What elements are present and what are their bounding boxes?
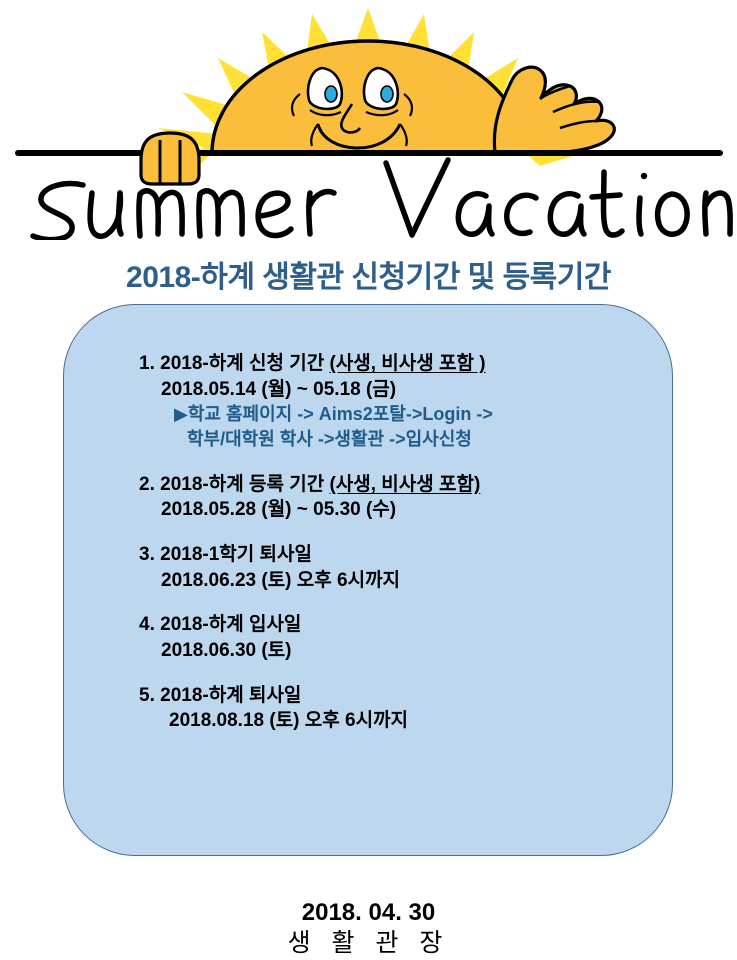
notice-item-heading: 4. 2018-하계 입사일 [139, 612, 679, 638]
item-title: 2018-하계 입사일 [160, 614, 301, 635]
notice-item-list: 1. 2018-하계 신청 기간 (사생, 비사생 포함 ) 2018.05.1… [139, 351, 679, 734]
notice-item-date: 2018.06.23 (토) 오후 6시까지 [161, 568, 679, 594]
waving-hand-icon [494, 67, 614, 152]
item-title: 2018-1학기 퇴사일 [160, 544, 312, 565]
item-number: 5. [139, 685, 155, 706]
banner-clipart [0, 0, 737, 240]
notice-item-date: 2018.05.28 (월) ~ 05.30 (수) [161, 497, 679, 523]
item-number: 2. [139, 474, 155, 495]
issue-date: 2018. 04. 30 [0, 898, 737, 928]
notice-item-date: 2018.05.14 (월) ~ 05.18 (금) [161, 377, 679, 403]
notice-item-heading: 2. 2018-하계 등록 기간 (사생, 비사생 포함) [139, 472, 679, 498]
notice-item-heading: 3. 2018-1학기 퇴사일 [139, 542, 679, 568]
footer: 2018. 04. 30 생 활 관 장 [0, 898, 737, 959]
notice-item-path-line-2: 학부/대학원 학사 ->생활관 ->입사신청 [187, 427, 679, 452]
notice-item-heading: 5. 2018-하계 퇴사일 [139, 683, 679, 709]
notice-item-date: 2018.08.18 (토) 오후 6시까지 [169, 708, 679, 734]
gripping-fingers-icon [141, 133, 199, 184]
list-item: 2. 2018-하계 등록 기간 (사생, 비사생 포함) 2018.05.28… [139, 472, 679, 523]
item-title: 2018-하계 신청 기간 [160, 353, 329, 374]
notice-item-heading: 1. 2018-하계 신청 기간 (사생, 비사생 포함 ) [139, 351, 679, 377]
list-item: 4. 2018-하계 입사일 2018.06.30 (토) [139, 612, 679, 663]
notice-item-path-line-1: ▶학교 홈페이지 -> Aims2포탈->Login -> [174, 402, 679, 427]
page-title: 2018-하계 생활관 신청기간 및 등록기간 [0, 252, 737, 296]
issuer-name: 생 활 관 장 [0, 928, 737, 959]
item-note: (사생, 비사생 포함 ) [329, 353, 485, 374]
item-note: (사생, 비사생 포함) [329, 474, 480, 495]
item-number: 4. [139, 614, 155, 635]
list-item: 1. 2018-하계 신청 기간 (사생, 비사생 포함 ) 2018.05.1… [139, 351, 679, 453]
item-number: 3. [139, 544, 155, 565]
list-item: 3. 2018-1학기 퇴사일 2018.06.23 (토) 오후 6시까지 [139, 542, 679, 593]
item-number: 1. [139, 353, 155, 374]
item-title: 2018-하계 등록 기간 [160, 474, 329, 495]
notice-item-date: 2018.06.30 (토) [161, 638, 679, 664]
summer-vacation-wordmark [33, 160, 730, 240]
list-item: 5. 2018-하계 퇴사일 2018.08.18 (토) 오후 6시까지 [139, 683, 679, 734]
notice-panel: 1. 2018-하계 신청 기간 (사생, 비사생 포함 ) 2018.05.1… [63, 304, 673, 856]
item-title: 2018-하계 퇴사일 [160, 685, 301, 706]
